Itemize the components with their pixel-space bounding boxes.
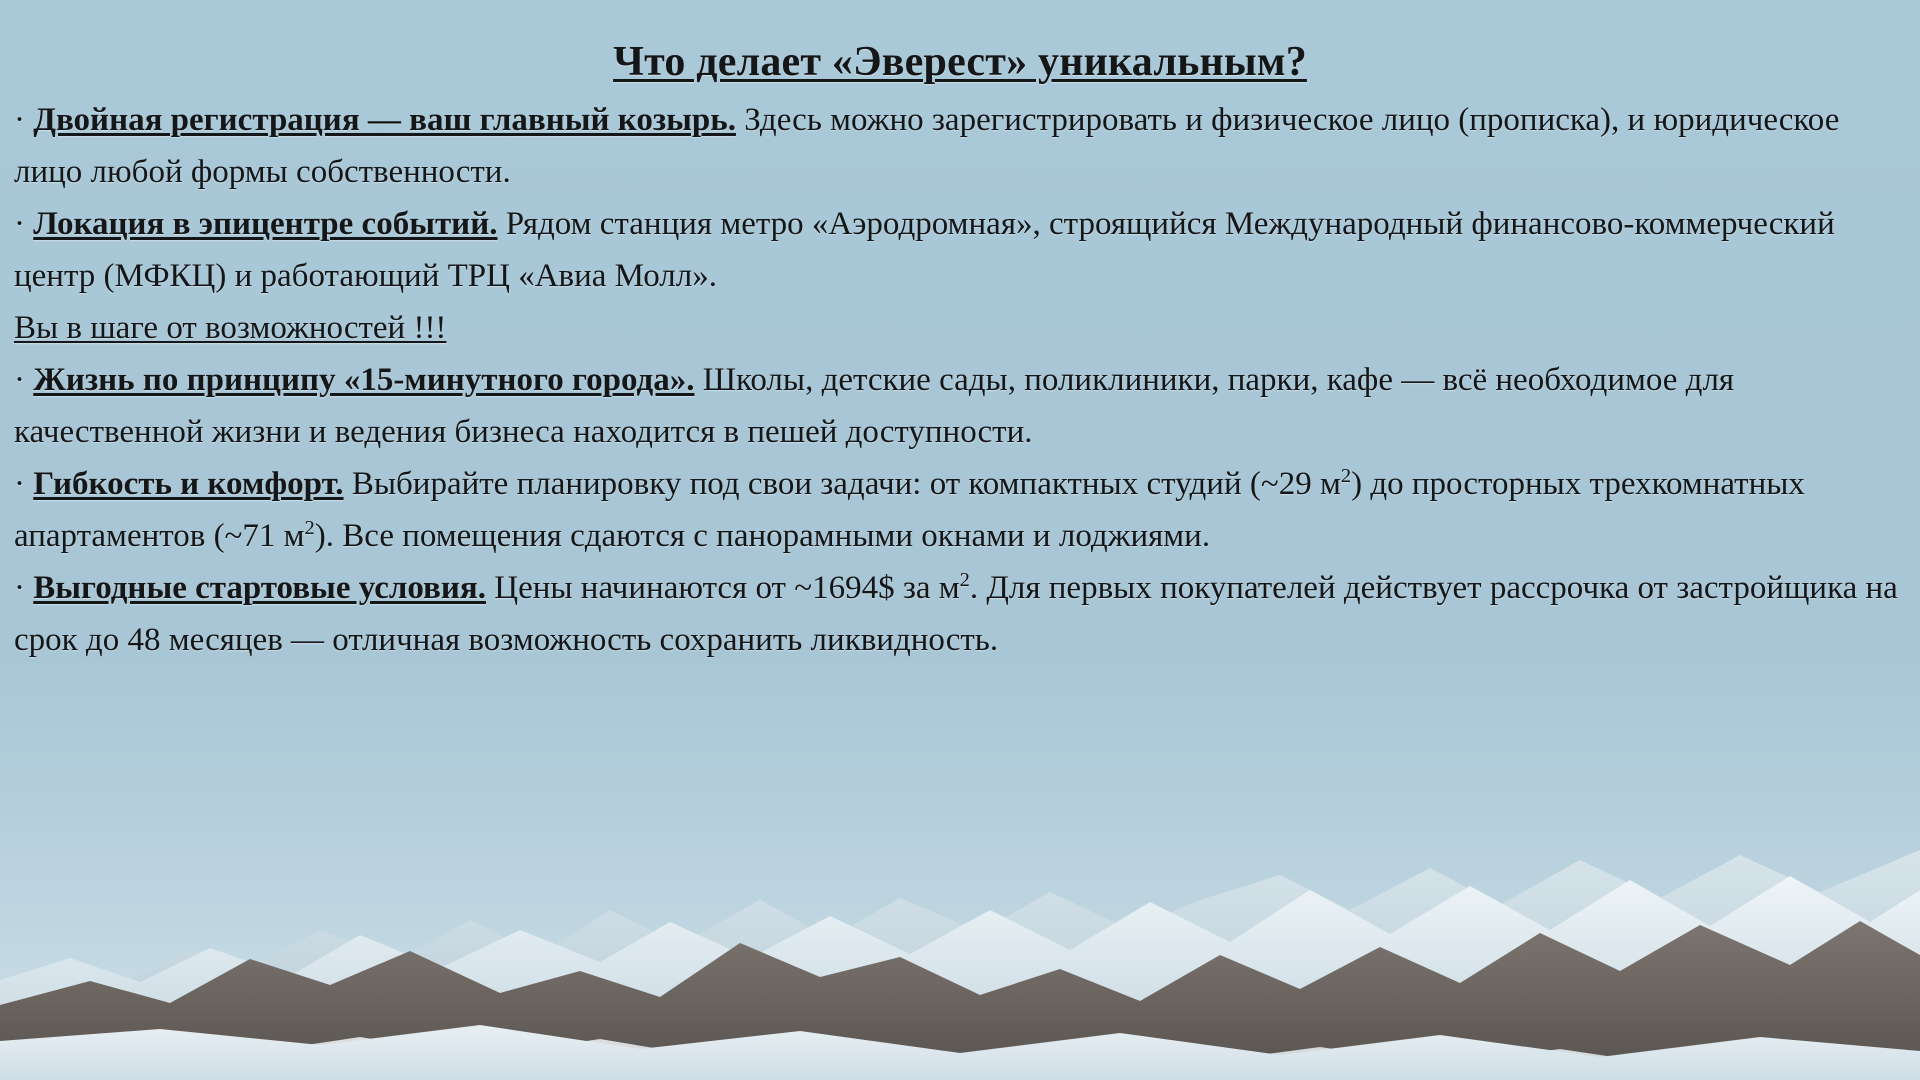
bullet-item-fifteen-minute-city: · Жизнь по принципу «15-минутного города… bbox=[0, 354, 1920, 458]
bullet-marker: · bbox=[14, 102, 25, 138]
bullet-lead-starting-conditions: Выгодные стартовые условия. bbox=[33, 570, 486, 606]
bullet-body-flexibility-pre: Выбирайте планировку под свои задачи: от… bbox=[352, 466, 1341, 502]
snowfield-foreground bbox=[0, 985, 1920, 1080]
bullet-item-starting-conditions: · Выгодные стартовые условия. Цены начин… bbox=[0, 562, 1920, 666]
bullet-item-location: · Локация в эпицентре событий. Рядом ста… bbox=[0, 198, 1920, 302]
callout-opportunity: Вы в шаге от возможностей !!! bbox=[0, 302, 1920, 354]
mountain-photo bbox=[0, 660, 1920, 1080]
page-title-text: Что делает «Эверест» уникальным? bbox=[613, 39, 1307, 85]
bullet-body-starting-conditions-pre: Цены начинаются от ~1694$ за м bbox=[494, 570, 959, 606]
bullet-item-dual-registration: · Двойная регистрация — ваш главный козы… bbox=[0, 94, 1920, 198]
bullet-lead-flexibility: Гибкость и комфорт. bbox=[33, 466, 343, 502]
bullet-body-flexibility-post: ). Все помещения сдаются с панорамными о… bbox=[315, 518, 1210, 554]
bullet-marker: · bbox=[14, 206, 25, 242]
bullet-lead-location: Локация в эпицентре событий. bbox=[33, 206, 497, 242]
bullet-lead-fifteen-minute-city: Жизнь по принципу «15-минутного города». bbox=[33, 362, 694, 398]
page-title: Что делает «Эверест» уникальным? bbox=[0, 38, 1920, 86]
superscript-square-meters-1: 2 bbox=[1341, 465, 1351, 487]
bullet-item-flexibility: · Гибкость и комфорт. Выбирайте планиров… bbox=[0, 458, 1920, 562]
slide-text-content: Что делает «Эверест» уникальным? · Двойн… bbox=[0, 0, 1920, 666]
bullet-marker: · bbox=[14, 362, 25, 398]
superscript-square-meters-3: 2 bbox=[960, 569, 970, 591]
presentation-slide: Что делает «Эверест» уникальным? · Двойн… bbox=[0, 0, 1920, 1080]
superscript-square-meters-2: 2 bbox=[305, 517, 315, 539]
bullet-marker: · bbox=[14, 570, 25, 606]
bullet-marker: · bbox=[14, 466, 25, 502]
bullet-lead-dual-registration: Двойная регистрация — ваш главный козырь… bbox=[33, 102, 736, 138]
